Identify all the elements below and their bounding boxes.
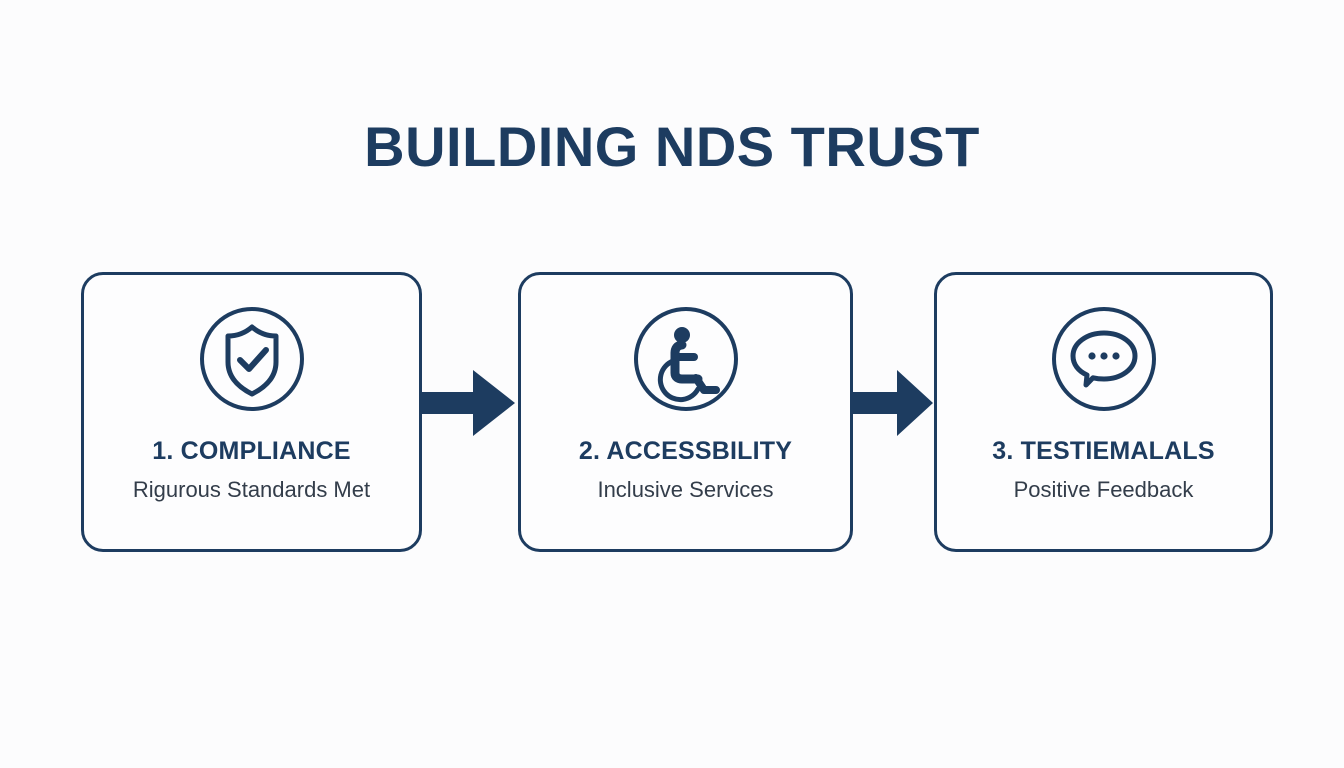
step-subtitle: Rigurous Standards Met [133,477,370,503]
speech-bubble-dots-icon [1050,305,1158,413]
page-title: BUILDING NDS TRUST [0,116,1344,178]
step-subtitle: Inclusive Services [597,477,773,503]
wheelchair-accessibility-icon [632,305,740,413]
step-subtitle: Positive Feedback [1014,477,1194,503]
arrow-right-icon [853,370,933,436]
step-card-testimonials[interactable]: 3. TESTIEMALALS Positive Feedback [934,272,1273,552]
step-title: 2. ACCESSBILITY [579,437,792,466]
step-title: 1. COMPLIANCE [152,437,350,466]
step-card-compliance[interactable]: 1. COMPLIANCE Rigurous Standards Met [81,272,422,552]
shield-check-icon [198,305,306,413]
process-flow: 1. COMPLIANCE Rigurous Standards Met [0,272,1344,554]
step-title: 3. TESTIEMALALS [992,437,1214,466]
slide-canvas: BUILDING NDS TRUST 1. COMPLIANCE Rigurou… [0,0,1344,768]
step-card-accessibility[interactable]: 2. ACCESSBILITY Inclusive Services [518,272,853,552]
arrow-right-icon [419,370,515,436]
